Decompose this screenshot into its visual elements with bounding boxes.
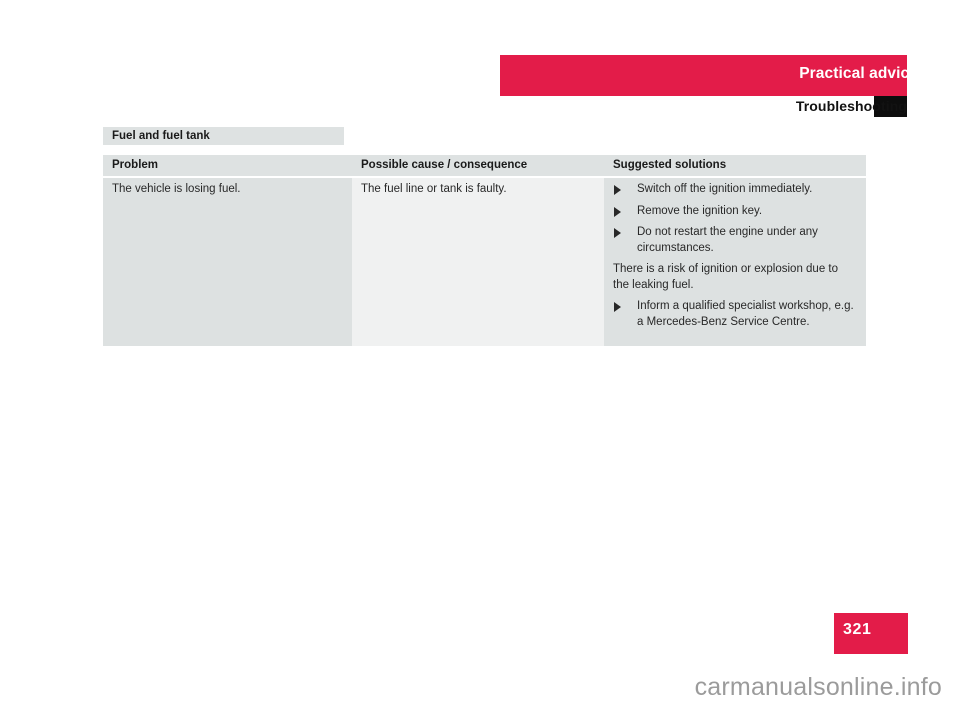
triangle-bullet-icon — [614, 185, 621, 195]
cell-solutions: Switch off the ignition immediately. Rem… — [604, 178, 866, 346]
solution-text: Inform a qualified specialist workshop, … — [637, 300, 854, 328]
section-heading-bar: Fuel and fuel tank — [103, 127, 344, 145]
section-heading-label: Fuel and fuel tank — [112, 129, 210, 143]
page-title: Practical advice — [799, 66, 918, 82]
list-item: Remove the ignition key. — [613, 204, 856, 220]
column-header-problem: Problem — [103, 155, 352, 176]
solution-text: Switch off the ignition immediately. — [637, 183, 812, 195]
triangle-bullet-icon — [614, 228, 621, 238]
page-number: 321 — [843, 622, 872, 638]
list-item: Switch off the ignition immediately. — [613, 182, 856, 198]
column-header-solutions: Suggested solutions — [604, 155, 866, 176]
cause-text: The fuel line or tank is faulty. — [361, 182, 594, 198]
cell-problem: The vehicle is losing fuel. — [103, 178, 352, 346]
solution-note-text: There is a risk of ignition or explosion… — [613, 262, 856, 293]
cell-cause: The fuel line or tank is faulty. — [352, 178, 604, 346]
triangle-bullet-icon — [614, 302, 621, 312]
triangle-bullet-icon — [614, 207, 621, 217]
section-subtitle: Troubleshooting — [796, 99, 907, 113]
list-item: Inform a qualified specialist workshop, … — [613, 299, 856, 330]
table-header-row: Problem Possible cause / consequence Sug… — [103, 155, 866, 176]
table-row: The vehicle is losing fuel. The fuel lin… — [103, 178, 866, 346]
solutions-list: Switch off the ignition immediately. Rem… — [613, 182, 856, 330]
list-item-note: There is a risk of ignition or explosion… — [613, 262, 856, 293]
watermark: carmanualsonline.info — [695, 675, 942, 700]
troubleshooting-table: Problem Possible cause / consequence Sug… — [103, 155, 866, 346]
column-header-cause: Possible cause / consequence — [352, 155, 604, 176]
page-number-box: 321 — [834, 613, 908, 654]
list-item: Do not restart the engine under any circ… — [613, 225, 856, 256]
solution-text: Do not restart the engine under any circ… — [637, 226, 818, 254]
solution-text: Remove the ignition key. — [637, 205, 762, 217]
manual-page: Practical advice Troubleshooting Fuel an… — [0, 0, 960, 708]
problem-text: The vehicle is losing fuel. — [112, 182, 342, 198]
